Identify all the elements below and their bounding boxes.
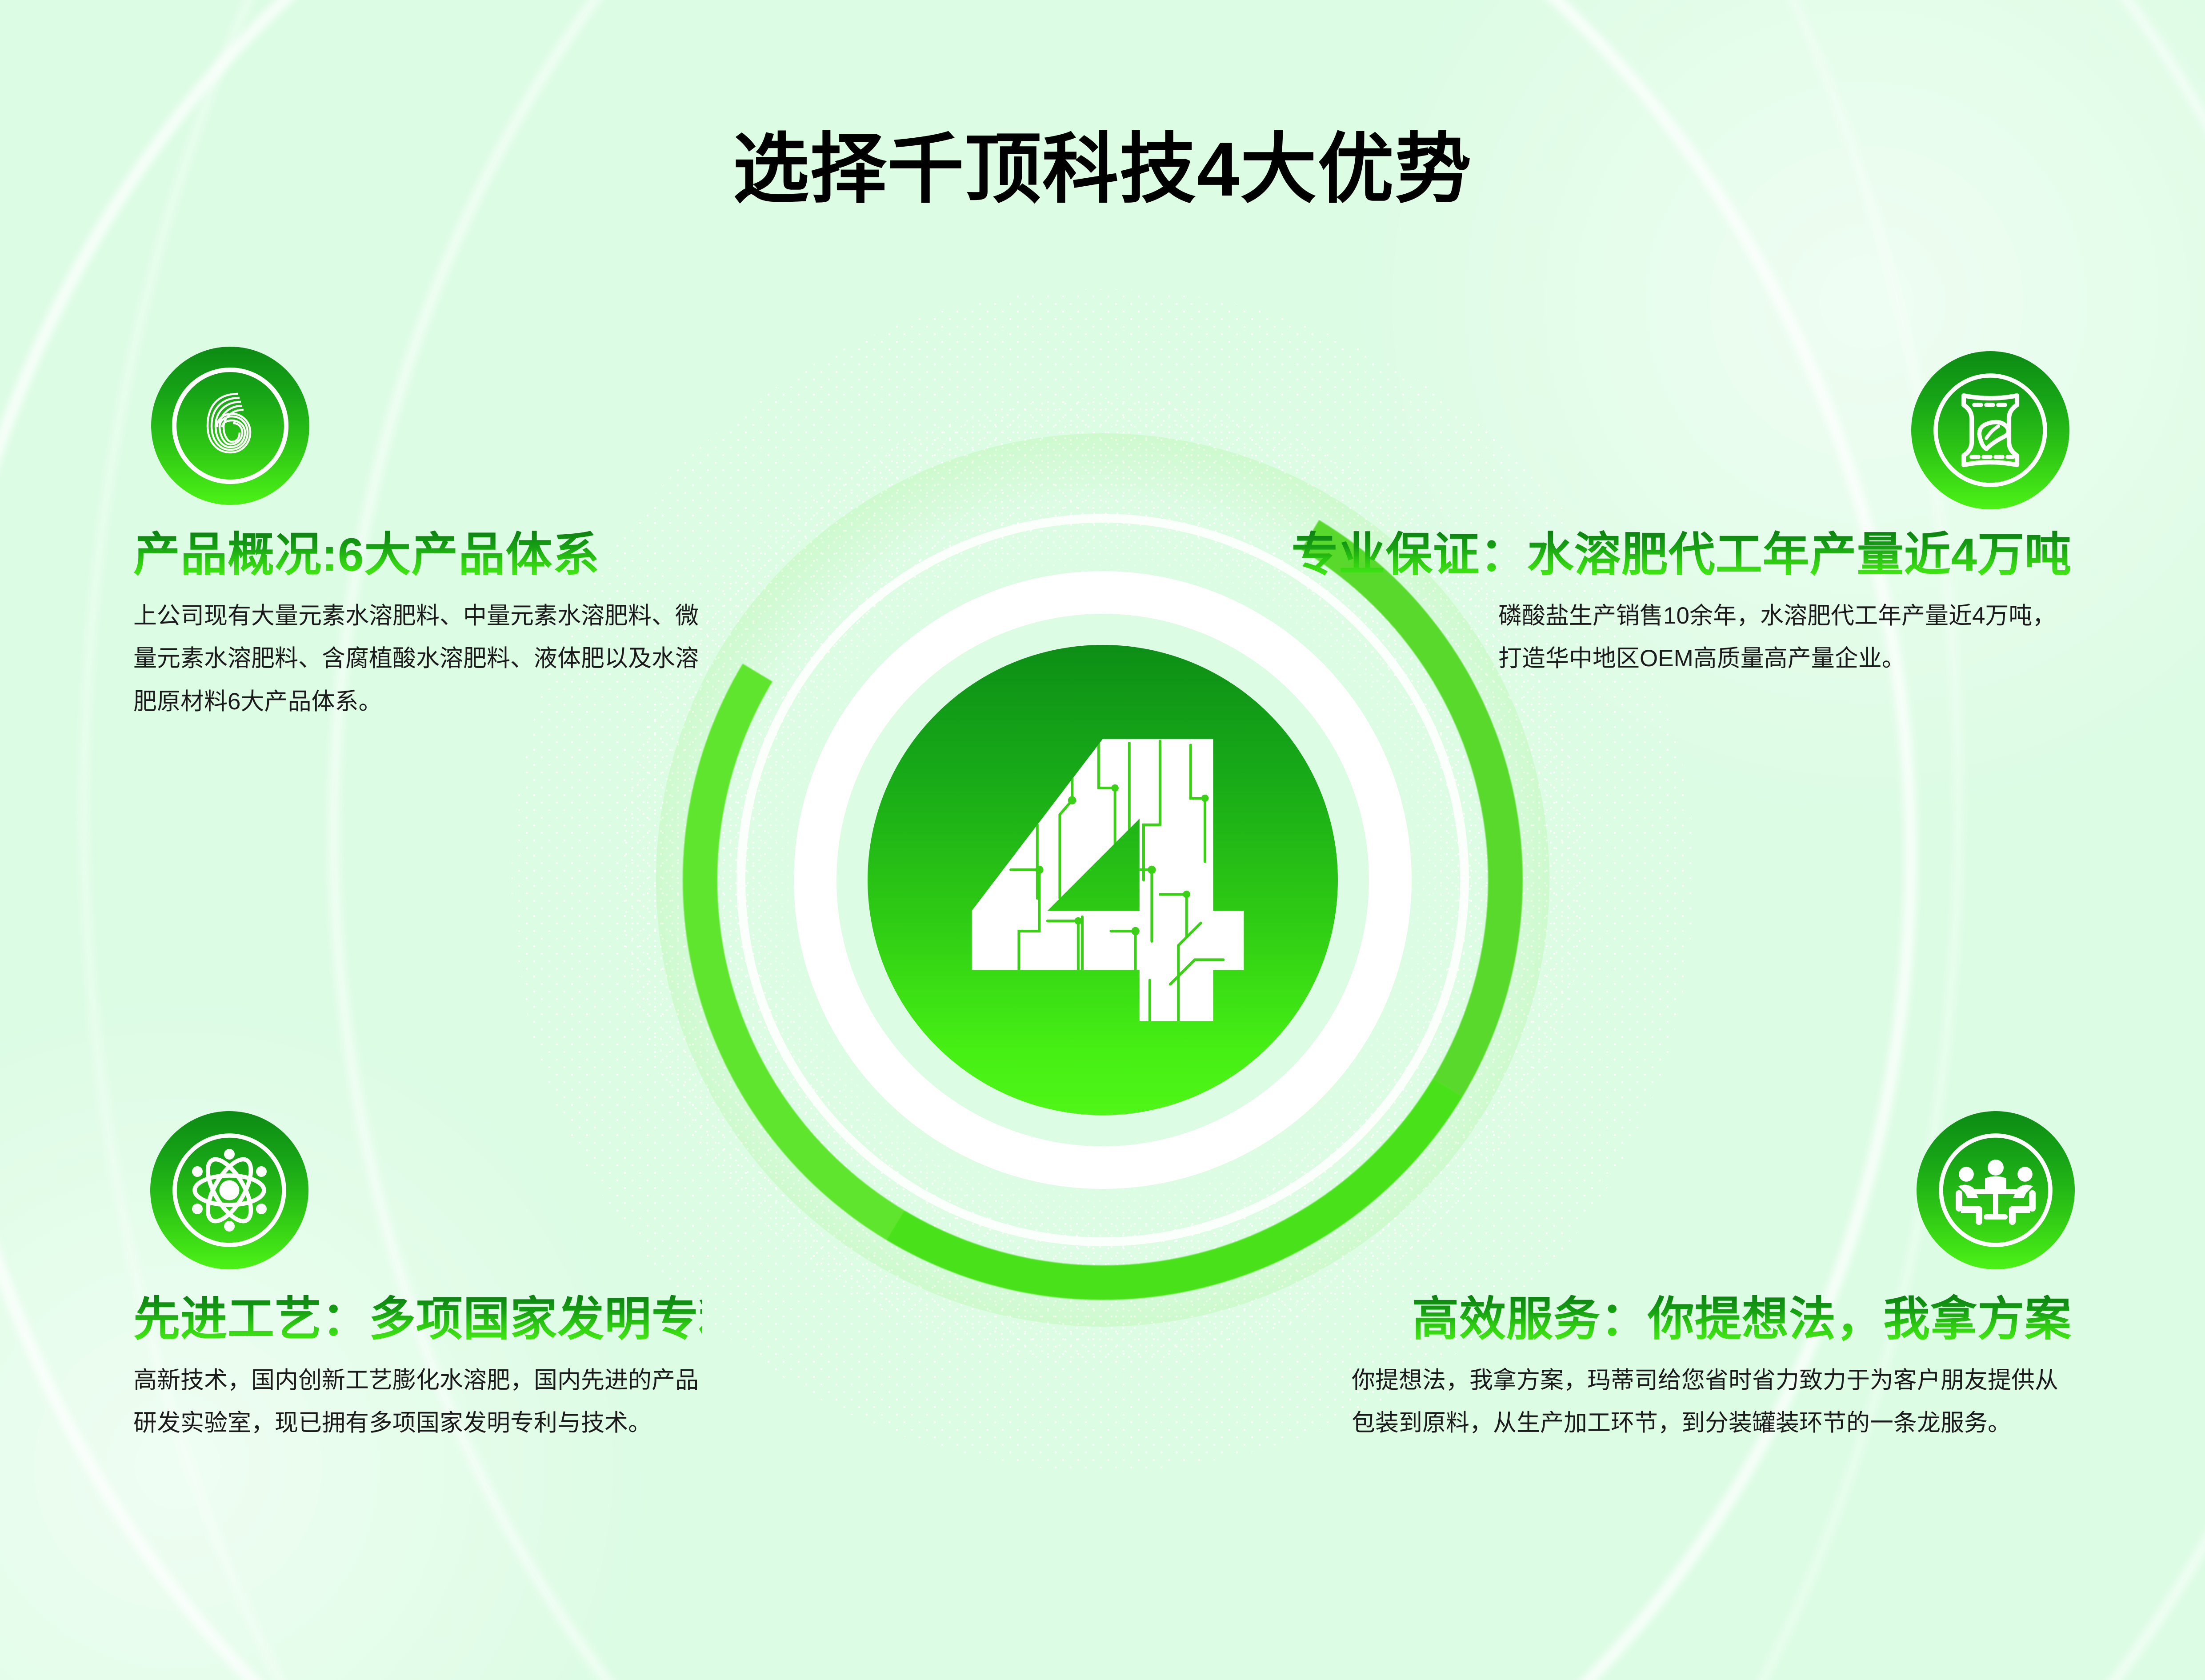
fertilizer-bag-icon [1911, 351, 2069, 509]
infographic-canvas: 选择千顶科技4大优势 [0, 0, 2205, 1680]
number-six-ring-icon [151, 347, 309, 505]
page-title: 选择千顶科技4大优势 [0, 107, 2205, 218]
feature-heading-bottom-right: 高效服务：你提想法，我拿方案 [1325, 1293, 2072, 1346]
center-number-badge [868, 645, 1338, 1115]
feature-heading-top-left: 产品概况:6大产品体系 [133, 529, 702, 581]
meeting-table-icon [1917, 1111, 2075, 1269]
atom-icon [150, 1111, 308, 1269]
feature-heading-top-right: 专业保证：水溶肥代工年产量近4万吨 [1138, 529, 2072, 581]
feature-block-top-left: 产品概况:6大产品体系 上公司现有大量元素水溶肥料、中量元素水溶肥料、微量元素水… [133, 529, 702, 723]
feature-body-top-right: 磷酸盐生产销售10余年，水溶肥代工年产量近4万吨，打造华中地区OEM高质量高产量… [1498, 595, 2072, 680]
feature-block-bottom-right: 高效服务：你提想法，我拿方案 你提想法，我拿方案，玛蒂司给您省时省力致力于为客户… [1325, 1293, 2072, 1445]
feature-heading-bottom-left: 先进工艺：多项国家发明专利 [133, 1293, 702, 1346]
feature-body-bottom-left: 高新技术，国内创新工艺膨化水溶肥，国内先进的产品研发实验室，现已拥有多项国家发明… [133, 1359, 702, 1445]
center-number-graphic [949, 727, 1256, 1033]
feature-body-top-left: 上公司现有大量元素水溶肥料、中量元素水溶肥料、微量元素水溶肥料、含腐植酸水溶肥料… [133, 595, 702, 723]
feature-body-bottom-right: 你提想法，我拿方案，玛蒂司给您省时省力致力于为客户朋友提供从包装到原料，从生产加… [1352, 1359, 2072, 1445]
feature-block-top-right: 专业保证：水溶肥代工年产量近4万吨 磷酸盐生产销售10余年，水溶肥代工年产量近4… [1138, 529, 2072, 680]
feature-block-bottom-left: 先进工艺：多项国家发明专利 高新技术，国内创新工艺膨化水溶肥，国内先进的产品研发… [133, 1293, 702, 1445]
